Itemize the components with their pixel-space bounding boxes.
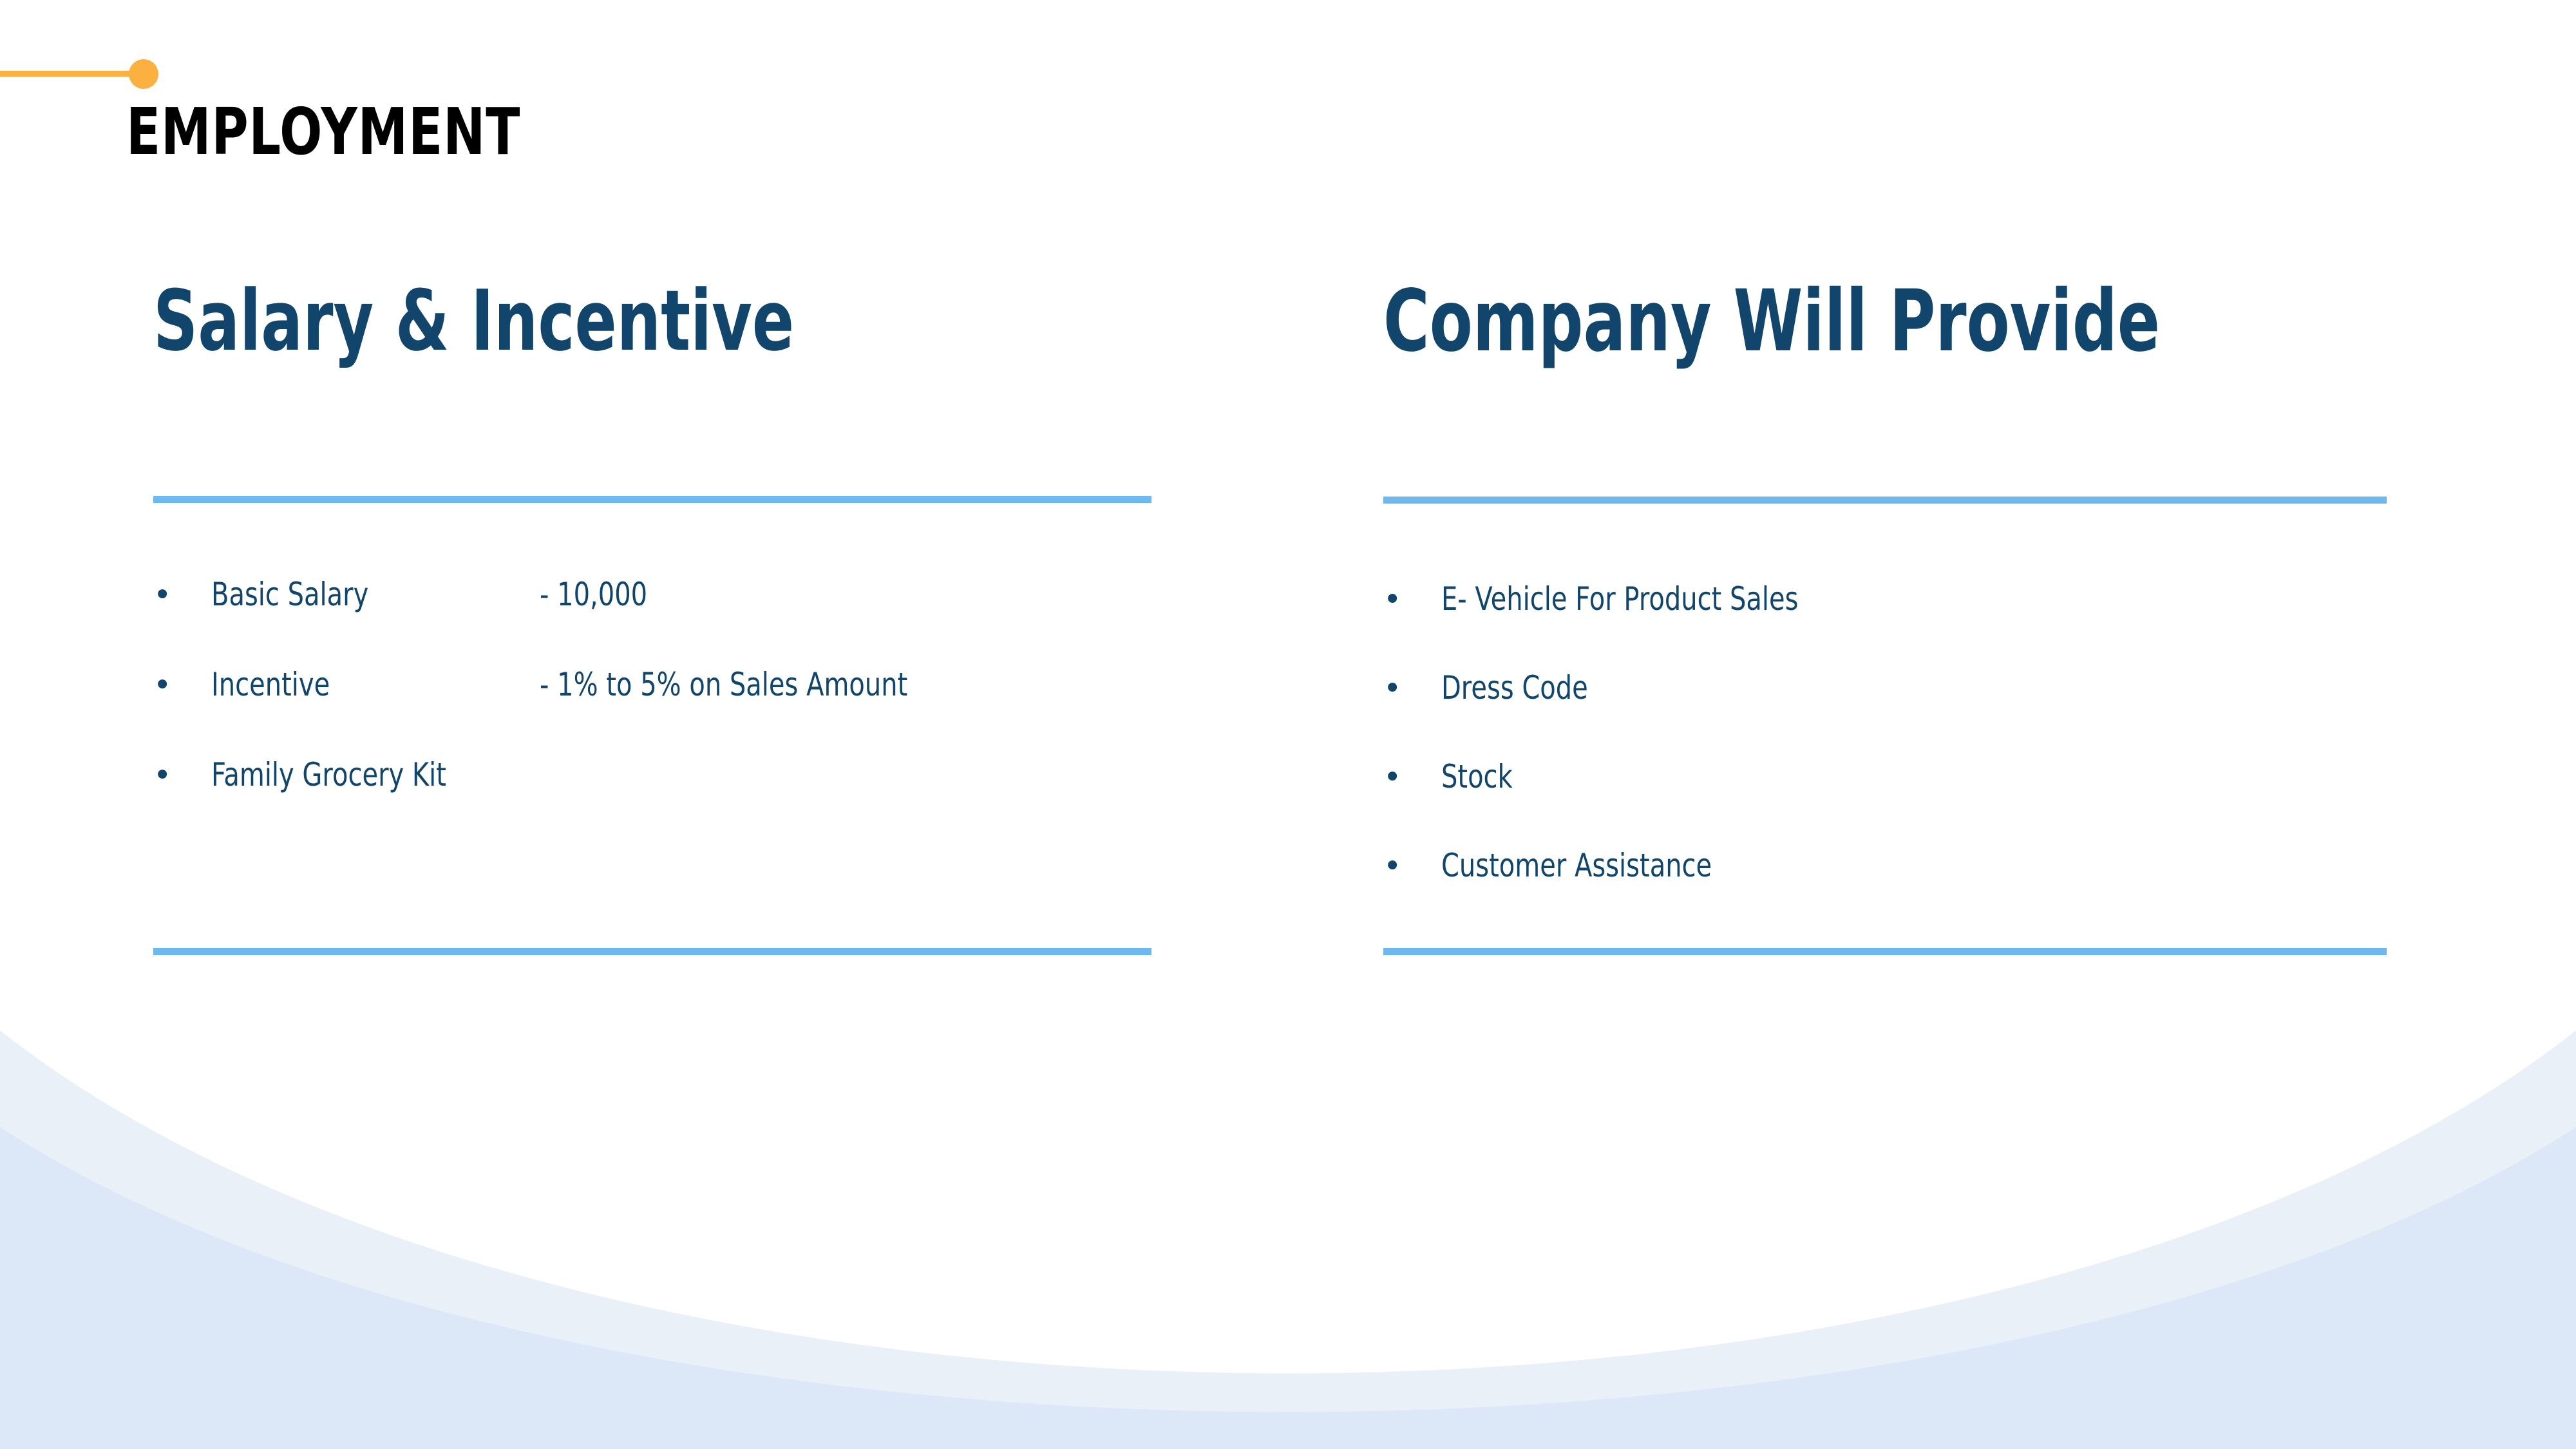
- wave-light-shape: [0, 1030, 2576, 1449]
- list-item: • Incentive - 1% to 5% on Sales Amount: [153, 668, 1151, 701]
- list-item-label: Family Grocery Kit: [211, 759, 474, 791]
- list-item: • Customer Assistance: [1383, 849, 2387, 882]
- list-item: • E- Vehicle For Product Sales: [1383, 583, 2387, 615]
- column-rule-top: [1383, 497, 2387, 504]
- bullet-list: • Basic Salary - 10,000 • Incentive - 1%…: [153, 578, 1151, 791]
- list-item-value: - 10,000: [540, 578, 647, 611]
- list-item-label: Basic Salary: [211, 578, 474, 611]
- list-item: • Stock: [1383, 761, 2387, 793]
- bullet-dot-icon: •: [1383, 762, 1441, 793]
- column-rule-bottom: [153, 948, 1151, 955]
- list-item: • Family Grocery Kit: [153, 759, 1151, 791]
- list-item-value: - 1% to 5% on Sales Amount: [540, 668, 907, 701]
- list-item: • Dress Code: [1383, 672, 2387, 704]
- column-rule-bottom: [1383, 948, 2387, 955]
- column-rule-top: [153, 496, 1151, 503]
- wave-decoration: [0, 998, 2576, 1449]
- accent-dot-icon: [129, 59, 158, 89]
- bullet-dot-icon: •: [153, 670, 211, 701]
- list-item-label: Customer Assistance: [1441, 849, 1712, 882]
- column-salary-incentive: Salary & Incentive • Basic Salary - 10,0…: [153, 277, 1151, 365]
- page-title: EMPLOYMENT: [126, 100, 520, 164]
- accent-decoration: [0, 59, 161, 89]
- bullet-list: • E- Vehicle For Product Sales • Dress C…: [1383, 583, 2387, 882]
- wave-dark-shape: [0, 1127, 2576, 1449]
- column-heading: Company Will Provide: [1383, 277, 2126, 366]
- list-item: • Basic Salary - 10,000: [153, 578, 1151, 611]
- list-item-label: Dress Code: [1441, 672, 1588, 704]
- list-item-label: Incentive: [211, 668, 474, 701]
- bullet-dot-icon: •: [153, 760, 211, 791]
- list-item-label: Stock: [1441, 761, 1513, 793]
- bullet-dot-icon: •: [1383, 673, 1441, 704]
- accent-line: [0, 71, 144, 77]
- bullet-dot-icon: •: [153, 580, 211, 611]
- list-item-label: E- Vehicle For Product Sales: [1441, 583, 1798, 615]
- bullet-dot-icon: •: [1383, 851, 1441, 882]
- column-heading: Salary & Incentive: [153, 277, 892, 365]
- column-company-will-provide: Company Will Provide • E- Vehicle For Pr…: [1383, 277, 2387, 366]
- slide-canvas: EMPLOYMENT Salary & Incentive • Basic Sa…: [0, 0, 2576, 1449]
- bullet-dot-icon: •: [1383, 584, 1441, 615]
